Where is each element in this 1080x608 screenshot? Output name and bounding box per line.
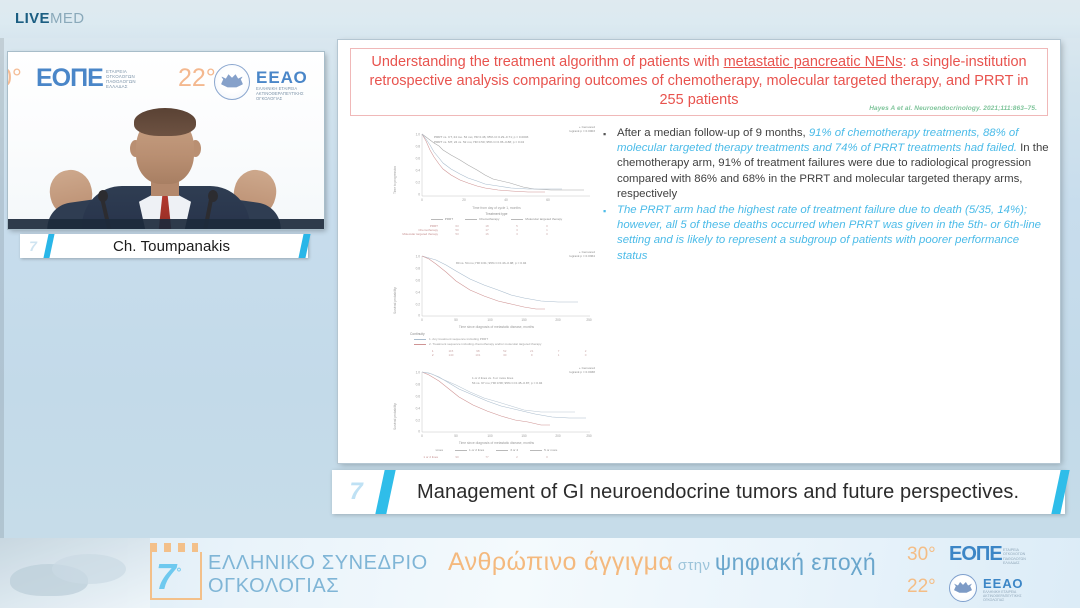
backdrop-eope-logo: EOΠE — [36, 64, 103, 93]
microphone-right-head-icon — [208, 190, 218, 202]
svg-text:0: 0 — [421, 198, 423, 202]
congress-logo: 7° ΕΛΛΗΝΙΚΟ ΣΥΝΕΔΡΙΟ ΟΓΚΟΛΟΓΙΑΣ — [150, 550, 440, 600]
svg-text:0.2: 0.2 — [416, 303, 421, 307]
crab-seal-icon — [949, 574, 977, 602]
svg-text:250: 250 — [586, 318, 592, 322]
svg-text:0.8: 0.8 — [416, 383, 421, 387]
svg-text:0.6: 0.6 — [416, 157, 421, 161]
km-chart-1: + Censored logrank p = 0.0003 PRRT vs. C… — [394, 124, 599, 242]
slogan-part2: στην — [678, 557, 711, 574]
km-chart-column: + Censored logrank p = 0.0003 PRRT vs. C… — [394, 124, 599, 459]
slide-bullet-list: ▪ After a median follow-up of 9 months, … — [600, 126, 1052, 265]
svg-text:60: 60 — [546, 198, 550, 202]
footer-22-label: 22° — [907, 576, 936, 598]
footer-eope-subtitle: ΕΤΑΙΡΕΙΑ ΟΓΚΟΛΟΓΩΝ ΠΑΘΟΛΟΓΩΝ ΕΛΛΑΔΑΣ — [1003, 548, 1026, 566]
logo-live: LIVE — [15, 10, 50, 27]
slogan-part1: Ανθρώπινο άγγιγμα — [448, 548, 673, 576]
svg-text:200: 200 — [555, 318, 561, 322]
congress-badge-icon: 7 — [20, 234, 46, 258]
km1-annotation-hr2: PRRT vs. MT, 24 vs. 52 mo; HR 0.50; 95% … — [434, 140, 524, 144]
svg-text:0.4: 0.4 — [416, 291, 421, 295]
svg-text:0: 0 — [418, 193, 420, 197]
svg-text:0: 0 — [418, 430, 420, 434]
crab-seal-icon — [214, 64, 250, 100]
slide-title: Understanding the treatment algorithm of… — [361, 53, 1037, 110]
backdrop-eeao-logo: ΕΕΑΟ — [256, 68, 308, 88]
svg-text:0.8: 0.8 — [416, 267, 421, 271]
slide-viewer[interactable]: Understanding the treatment algorithm of… — [338, 40, 1060, 463]
km2-legend-item-1: 2. Treatment sequence including chemothe… — [414, 342, 541, 347]
slide-citation: Hayes A et al. Neuroendocrinology. 2021;… — [869, 105, 1037, 112]
livemed-logo[interactable]: LIVEMED — [15, 10, 85, 28]
km2-plot: 1.00.8 0.60.4 0.20 050 100150 200250 — [394, 248, 599, 326]
svg-text:1.0: 1.0 — [416, 371, 421, 375]
slide-title-part1: Understanding the treatment algorithm of… — [371, 54, 723, 70]
svg-text:0.6: 0.6 — [416, 395, 421, 399]
km3-legend-item-0: 1 or 2 lines — [455, 448, 484, 452]
km3-legend: Lines 1 or 2 lines 3 or 4 5 or more — [394, 448, 599, 452]
footer-banner: 7° ΕΛΛΗΝΙΚΟ ΣΥΝΕΔΡΙΟ ΟΓΚΟΛΟΓΙΑΣ Ανθρώπιν… — [0, 538, 1080, 608]
speaker-name: Ch. Toumpanakis — [52, 238, 301, 255]
svg-text:20: 20 — [462, 198, 466, 202]
svg-text:150: 150 — [521, 434, 527, 438]
bullet-marker: ▪ — [600, 203, 617, 264]
svg-text:200: 200 — [555, 434, 561, 438]
left-edge-shadow — [0, 38, 4, 538]
slide-title-box: Understanding the treatment algorithm of… — [350, 48, 1048, 116]
svg-text:0: 0 — [421, 318, 423, 322]
player-stage: LIVEMED 0° EOΠE ΕΤΑΙΡΕΙΑ ΟΓΚΟΛΟΓΩΝ ΠΑΘΟΛ… — [0, 0, 1080, 608]
bullet-marker: ▪ — [600, 126, 617, 202]
km1-legend-title: Treatment type — [394, 212, 599, 216]
svg-text:0.8: 0.8 — [416, 145, 421, 149]
km1-legend-item-0: PRRT — [431, 217, 453, 221]
km1-legend-item-2: Molecular targeted therapy — [511, 217, 562, 221]
svg-text:0.4: 0.4 — [416, 407, 421, 411]
km3-x-axis-label: Time since diagnosis of metastatic disea… — [394, 441, 599, 445]
km3-risk-table: 1 or 2 lines907720 3 or 4852292 5 or mor… — [394, 455, 599, 459]
km2-legend-title: Continuity — [410, 332, 599, 336]
backdrop-eeao-subtitle: ΕΛΛΗΝΙΚΗ ΕΤΑΙΡΕΙΑ ΑΚΤΙΝΟΘΕΡΑΠΕΥΤΙΚΗΣ ΟΓΚ… — [256, 86, 304, 101]
slide-content: Understanding the treatment algorithm of… — [342, 44, 1056, 459]
svg-text:1.0: 1.0 — [416, 133, 421, 137]
bullet1-lead: After a median follow-up of 9 months, — [617, 127, 809, 139]
km1-y-axis-label: Time to progression — [393, 166, 397, 194]
backdrop-eope-subtitle: ΕΤΑΙΡΕΙΑ ΟΓΚΟΛΟΓΩΝ ΠΑΘΟΛΟΓΩΝ ΕΛΛΑΔΑΣ — [106, 69, 136, 89]
svg-text:150: 150 — [521, 318, 527, 322]
km3-annotation-hr: 54 vs. 97 mo; HR 0.58; 95% CI 0.45–0.87;… — [472, 381, 542, 385]
video-canvas[interactable]: 0° EOΠE ΕΤΑΙΡΕΙΑ ΟΓΚΟΛΟΓΩΝ ΠΑΘΟΛΟΓΩΝ ΕΛΛ… — [8, 52, 324, 229]
video-desk-edge — [8, 219, 324, 229]
km2-y-axis-label: Survival probability — [393, 287, 397, 314]
svg-text:0: 0 — [418, 314, 420, 318]
top-strip — [0, 0, 1080, 38]
slide-title-underlined: metastatic pancreatic NENs — [724, 54, 903, 70]
microphone-left-head-icon — [98, 190, 108, 202]
km3-annotation-logrank: logrank p = 0.0038 — [569, 370, 595, 374]
km3-legend-title: Lines — [436, 448, 443, 452]
backdrop-30-label: 0° — [8, 64, 22, 93]
km1-x-axis-label: Time from day of cycle 1, months — [394, 206, 599, 210]
footer-eeao-logo: ΕΕΑΟ — [983, 576, 1024, 591]
video-player[interactable]: 0° EOΠE ΕΤΑΙΡΕΙΑ ΟΓΚΟΛΟΓΩΝ ΠΑΘΟΛΟΓΩΝ ΕΛΛ… — [8, 52, 324, 229]
km2-legend: 1. Any treatment sequence including PRRT… — [414, 337, 541, 347]
session-title-bar: 7 Management of GI neuroendocrine tumors… — [332, 470, 1065, 514]
km1-legend: PRRT Chemotherapy Molecular targeted the… — [394, 217, 599, 221]
svg-text:1.0: 1.0 — [416, 255, 421, 259]
congress-number: 7° — [156, 552, 181, 597]
footer-30-label: 30° — [907, 544, 936, 566]
speaker-nameplate: 7 Ch. Toumpanakis — [20, 234, 308, 258]
km2-risk-table: 111598522172 214010130910 — [394, 349, 599, 357]
svg-text:250: 250 — [586, 434, 592, 438]
km2-annotation-logrank: logrank p = 0.0364 — [569, 254, 595, 258]
km1-risk-table: PRRT631850 Chemotherapy501731 Molecular … — [394, 224, 599, 236]
svg-text:100: 100 — [487, 318, 493, 322]
km3-legend-item-2: 5 or more — [530, 448, 557, 452]
svg-text:50: 50 — [454, 434, 458, 438]
session-title: Management of GI neuroendocrine tumors a… — [391, 481, 1056, 504]
list-item: ▪ The PRRT arm had the highest rate of t… — [600, 203, 1052, 264]
backdrop-22-label: 22° — [178, 64, 216, 93]
list-item: ▪ After a median follow-up of 9 months, … — [600, 126, 1052, 202]
bullet-text-2: The PRRT arm had the highest rate of tre… — [617, 203, 1052, 264]
table-row: Molecular targeted therapy531630 — [394, 232, 599, 236]
svg-text:40: 40 — [504, 198, 508, 202]
km2-annotation-hr: 80 vs. 54 mo; HR 0.61; 95% CI 0.43–0.98;… — [456, 261, 526, 265]
svg-text:0.2: 0.2 — [416, 181, 421, 185]
svg-text:0.4: 0.4 — [416, 169, 421, 173]
km2-x-axis-label: Time since diagnosis of metastatic disea… — [394, 325, 599, 329]
svg-text:100: 100 — [487, 434, 493, 438]
footer-eope-logo: EOΠE — [949, 543, 1002, 566]
footer-slogan: Ανθρώπινο άγγιγμα στην ψηφιακή εποχή — [448, 548, 876, 577]
km3-legend-item-1: 3 or 4 — [496, 448, 518, 452]
congress-badge-icon: 7 — [332, 470, 380, 514]
footer-sponsor-logos: 30° EOΠE ΕΤΑΙΡΕΙΑ ΟΓΚΟΛΟΓΩΝ ΠΑΘΟΛΟΓΩΝ ΕΛ… — [905, 538, 1080, 608]
km1-legend-item-1: Chemotherapy — [465, 217, 499, 221]
km3-annotation-comparison: 1 or 2 lines vs. 3 or more lines — [472, 376, 513, 380]
bullet-text-1: After a median follow-up of 9 months, 91… — [617, 126, 1052, 202]
table-row: 214010130910 — [394, 353, 599, 357]
svg-text:0.2: 0.2 — [416, 419, 421, 423]
km1-annotation-logrank: logrank p = 0.0003 — [569, 129, 595, 133]
svg-text:50: 50 — [454, 318, 458, 322]
footer-hand-shape-b — [52, 554, 126, 584]
footer-eeao-subtitle: ΕΛΛΗΝΙΚΗ ΕΤΑΙΡΕΙΑ ΑΚΤΙΝΟΘΕΡΑΠΕΥΤΙΚΗΣ ΟΓΚ… — [983, 590, 1022, 603]
speaker-hair — [134, 108, 196, 136]
svg-text:0.6: 0.6 — [416, 279, 421, 283]
congress-name-line2: ΟΓΚΟΛΟΓΙΑΣ — [208, 575, 339, 598]
km1-annotation-hr1: PRRT vs. CT, 24 mo. 52 mo; HR 0.46; 95% … — [434, 135, 528, 139]
svg-text:0: 0 — [421, 434, 423, 438]
km3-y-axis-label: Survival probability — [393, 403, 397, 430]
slogan-part3: ψηφιακή εποχή — [715, 549, 876, 575]
km-chart-3: + Censored logrank p = 0.0038 1 or 2 lin… — [394, 364, 599, 459]
km-chart-2: + Censored logrank p = 0.0364 80 vs. 54 … — [394, 248, 599, 358]
congress-name-line1: ΕΛΛΗΝΙΚΟ ΣΥΝΕΔΡΙΟ — [208, 552, 428, 575]
sponsor-backdrop: 0° EOΠE ΕΤΑΙΡΕΙΑ ΟΓΚΟΛΟΓΩΝ ΠΑΘΟΛΟΓΩΝ ΕΛΛ… — [8, 58, 324, 104]
footer-hands-image — [0, 538, 150, 608]
logo-med: MED — [50, 10, 85, 27]
